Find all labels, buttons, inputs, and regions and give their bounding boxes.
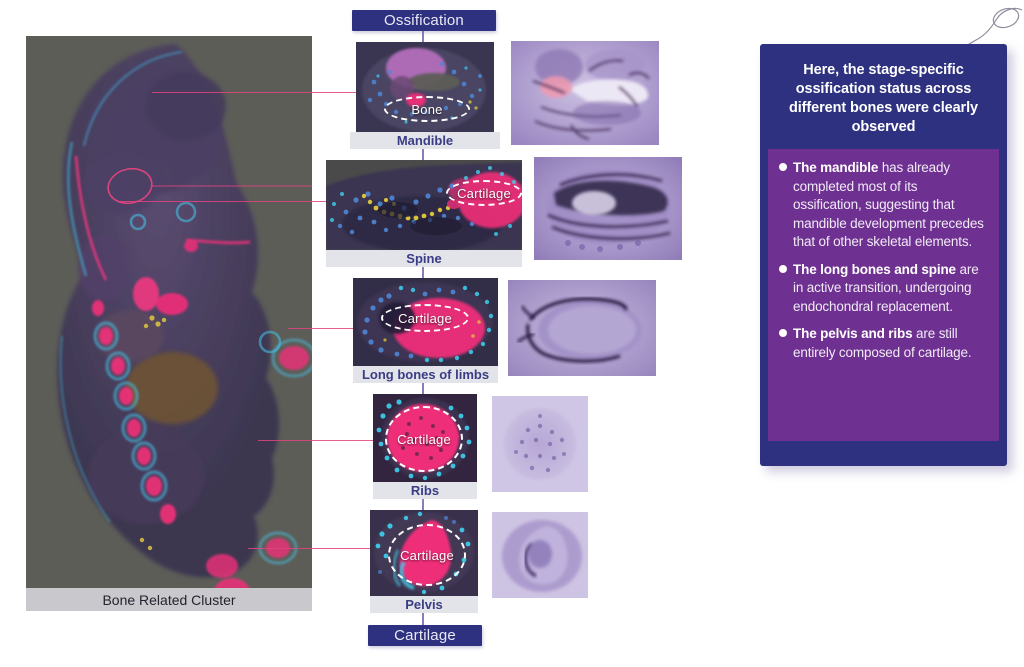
bullet-lead: The long bones and spine xyxy=(793,262,956,277)
main-tissue-caption: Bone Related Cluster xyxy=(26,588,312,611)
spatial-panel-spine: Cartilage xyxy=(326,160,522,250)
he-image-pelvis xyxy=(492,512,588,598)
panel-caption-pelvis: Pelvis xyxy=(370,596,478,613)
list-item: The pelvis and ribs are still entirely c… xyxy=(779,325,988,362)
stem-3 xyxy=(422,382,424,394)
stem-1 xyxy=(422,148,424,160)
callout-card: Here, the stage-specific ossification st… xyxy=(760,44,1007,466)
spatial-panel-ribs: Cartilage xyxy=(373,394,477,482)
connector-mandible xyxy=(152,92,358,93)
he-spine-render xyxy=(534,157,682,260)
connector-longbones xyxy=(288,328,358,329)
bullet-lead: The pelvis and ribs xyxy=(793,326,912,341)
he-image-long-bones xyxy=(508,280,656,376)
panel-caption-long-bones: Long bones of limbs xyxy=(353,366,498,383)
he-longbones-render xyxy=(508,280,656,376)
connector-ribs xyxy=(258,440,374,441)
bullet-lead: The mandible xyxy=(793,160,878,175)
he-mandible-render xyxy=(511,41,659,145)
bullet-dot-icon xyxy=(779,329,787,337)
panel-caption-mandible: Mandible xyxy=(350,132,500,149)
callout-heading: Here, the stage-specific ossification st… xyxy=(760,44,1007,149)
region-label-pelvis-cartilage: Cartilage xyxy=(388,524,466,586)
connector-pelvis xyxy=(248,548,374,549)
ossification-tag[interactable]: Ossification xyxy=(352,10,496,31)
bullet-dot-icon xyxy=(779,265,787,273)
region-label-spine-cartilage: Cartilage xyxy=(446,180,522,206)
he-pelvis-render xyxy=(492,512,588,598)
stem-top xyxy=(422,30,424,42)
stem-4 xyxy=(422,498,424,510)
callout-bullet-list: The mandible has already completed most … xyxy=(768,149,999,441)
list-item: The long bones and spine are in active t… xyxy=(779,261,988,317)
connector-spine xyxy=(120,201,328,202)
bullet-dot-icon xyxy=(779,163,787,171)
he-image-mandible xyxy=(511,41,659,145)
main-tissue-panel xyxy=(26,36,312,588)
region-label-bone: Bone xyxy=(384,96,470,122)
panel-caption-spine: Spine xyxy=(326,250,522,267)
he-ribs-render xyxy=(492,396,588,492)
main-tissue-render xyxy=(26,36,312,588)
region-label-ribs-cartilage: Cartilage xyxy=(385,406,463,472)
spatial-panel-pelvis: Cartilage xyxy=(370,510,478,596)
figure-canvas: Bone Related Cluster Ossification xyxy=(0,0,1024,667)
he-image-ribs xyxy=(492,396,588,492)
panel-caption-ribs: Ribs xyxy=(373,482,477,499)
spatial-panel-long-bones: Cartilage xyxy=(353,278,498,366)
region-label-longbones-cartilage: Cartilage xyxy=(381,304,469,332)
he-image-spine xyxy=(534,157,682,260)
stem-2 xyxy=(422,266,424,278)
spatial-panel-mandible: Bone xyxy=(356,42,494,132)
stem-bottom xyxy=(422,612,424,626)
cartilage-tag[interactable]: Cartilage xyxy=(368,625,482,646)
list-item: The mandible has already completed most … xyxy=(779,159,988,252)
